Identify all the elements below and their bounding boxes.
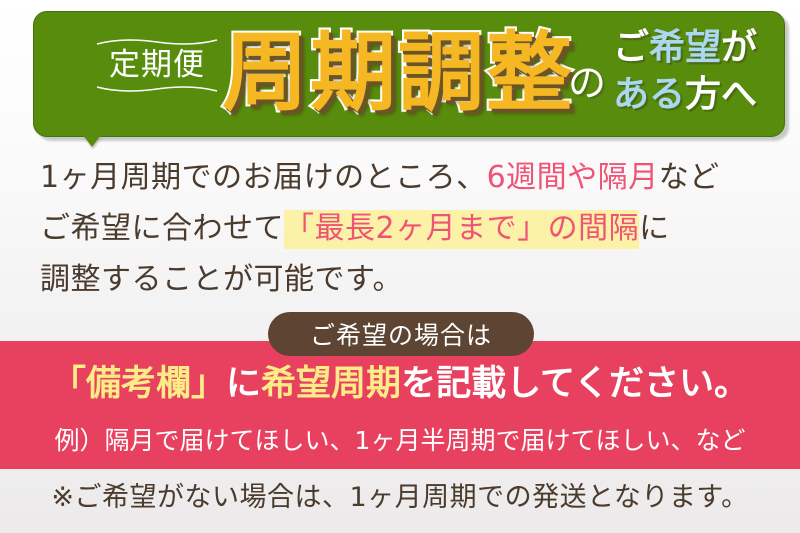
header-subtitle-seg-4: ある: [613, 74, 685, 115]
header-subtitle-seg-2: 希望: [649, 27, 721, 68]
header-subtitle-seg-1: ご: [613, 27, 649, 68]
body-paragraph: 1ヶ月周期でのお届けのところ、6週間や隔月など ご希望に合わせて「最長2ヶ月まで…: [40, 152, 770, 305]
body-line-3: 調整することが可能です。: [40, 254, 770, 305]
header-section: 定期便 周期調整 の ご希望が ある方へ: [0, 0, 800, 146]
speech-bubble-tail-icon: [83, 135, 101, 147]
body-line-2-highlight: 「最長2ヶ月まで」の間隔: [284, 210, 639, 249]
body-line-1-seg-1: 1ヶ月周期でのお届けのところ、: [40, 160, 487, 195]
body-line-2-seg-2: に: [639, 211, 670, 246]
callout-badge-label: ご希望の場合は: [310, 316, 492, 352]
wavy-rule-top-icon: [96, 38, 218, 46]
callout-main-text: 「備考欄」に希望周期を記載してください。: [0, 361, 800, 407]
body-line-2: ご希望に合わせて「最長2ヶ月まで」の間隔に: [40, 203, 770, 254]
subscription-badge-label: 定期便: [96, 46, 218, 85]
wavy-rule-bottom-icon: [96, 85, 218, 93]
header-subtitle-seg-5: 方へ: [685, 74, 757, 115]
header-title: 周期調整: [222, 17, 574, 129]
header-subtitle: ご希望が ある方へ: [613, 24, 783, 118]
body-line-2-seg-1: ご希望に合わせて: [40, 211, 284, 246]
body-line-1-accent: 6週間や隔月: [487, 160, 659, 195]
header-title-particle: の: [568, 52, 606, 107]
footer-note: ※ご希望がない場合は、1ヶ月周期での発送となります。: [0, 478, 800, 518]
promo-banner: 定期便 周期調整 の ご希望が ある方へ 1ヶ月周期でのお届けのところ、6週間や…: [0, 0, 800, 533]
callout-badge: ご希望の場合は: [268, 312, 534, 356]
callout-main-seg-1: 「備考欄」: [51, 364, 226, 404]
callout-main-seg-4: を記載してください。: [401, 364, 749, 404]
body-line-1: 1ヶ月周期でのお届けのところ、6週間や隔月など: [40, 152, 770, 203]
header-subtitle-seg-3: が: [721, 27, 757, 68]
callout-main-seg-2: に: [226, 364, 261, 404]
callout-main-seg-3: 希望周期: [261, 364, 401, 404]
callout-example-text: 例）隔月で届けてほしい、1ヶ月半周期で届けてほしい、など: [0, 424, 800, 458]
subscription-badge: 定期便: [96, 38, 218, 93]
body-line-1-seg-2: など: [659, 160, 720, 195]
